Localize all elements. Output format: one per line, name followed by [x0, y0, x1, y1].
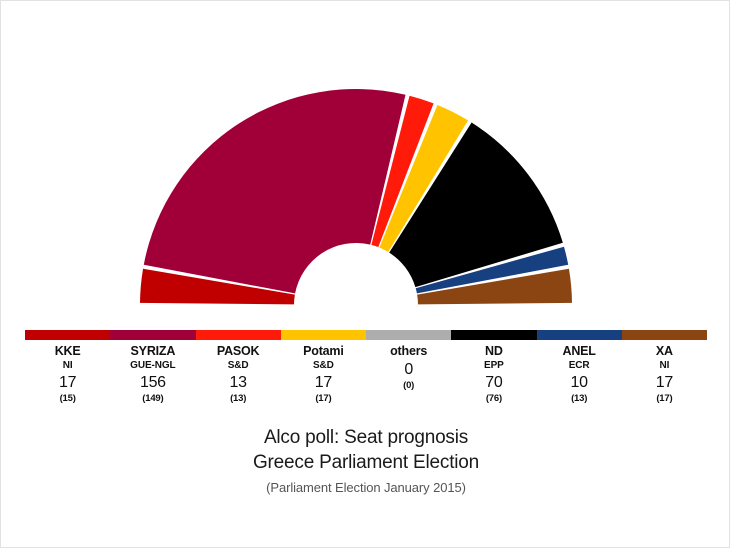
legend-party-name: ND — [451, 345, 536, 359]
legend-party-previous-seats: (149) — [110, 394, 195, 404]
legend-party-seats: 17 — [281, 374, 366, 391]
legend-item-anel[interactable]: ANELECR10(13) — [537, 345, 622, 404]
legend-item-syriza[interactable]: SYRIZAGUE-NGL156(149) — [110, 345, 195, 404]
legend-party-seats: 17 — [25, 374, 110, 391]
legend-columns: KKENI17(15)SYRIZAGUE-NGL156(149)PASOKS&D… — [25, 345, 707, 404]
legend-party-name: PASOK — [196, 345, 281, 359]
legend-swatch-pasok — [196, 330, 281, 340]
legend-item-xa[interactable]: XANI17(17) — [622, 345, 707, 404]
legend-party-group: NI — [25, 361, 110, 372]
hemicycle-wedge-syriza[interactable] — [144, 89, 406, 293]
legend-party-name: ANEL — [537, 345, 622, 359]
chart-title-line2: Greece Parliament Election — [1, 450, 730, 475]
legend-swatch-syriza — [110, 330, 195, 340]
legend-swatch-others — [366, 330, 451, 340]
legend-swatch-anel — [537, 330, 622, 340]
legend-swatch-xa — [622, 330, 707, 340]
hemicycle-svg — [1, 1, 730, 321]
legend-party-previous-seats: (13) — [196, 394, 281, 404]
legend-party-seats: 156 — [110, 374, 195, 391]
legend-party-group: NI — [622, 361, 707, 372]
legend-party-previous-seats: (15) — [25, 394, 110, 404]
legend-party-seats: 10 — [537, 374, 622, 391]
legend-item-kke[interactable]: KKENI17(15) — [25, 345, 110, 404]
legend-party-seats: 17 — [622, 374, 707, 391]
legend-party-group: S&D — [196, 361, 281, 372]
legend-color-bar — [25, 330, 707, 340]
hemicycle-wedges — [140, 89, 572, 304]
legend-party-group: GUE-NGL — [110, 361, 195, 372]
chart-title-line1: Alco poll: Seat prognosis — [1, 425, 730, 450]
legend-party-group: S&D — [281, 361, 366, 372]
legend-party-previous-seats: (17) — [281, 394, 366, 404]
legend-item-nd[interactable]: NDEPP70(76) — [451, 345, 536, 404]
legend-party-name: Potami — [281, 345, 366, 359]
legend-party-name: others — [366, 345, 451, 359]
legend-party-seats: 13 — [196, 374, 281, 391]
legend-item-potami[interactable]: PotamiS&D17(17) — [281, 345, 366, 404]
legend-item-others[interactable]: others0(0) — [366, 345, 451, 404]
legend-party-group: ECR — [537, 361, 622, 372]
legend-party-seats: 70 — [451, 374, 536, 391]
hemicycle-chart — [1, 1, 730, 321]
legend: KKENI17(15)SYRIZAGUE-NGL156(149)PASOKS&D… — [25, 330, 707, 412]
legend-party-previous-seats: (13) — [537, 394, 622, 404]
legend-party-name: XA — [622, 345, 707, 359]
legend-party-name: SYRIZA — [110, 345, 195, 359]
legend-swatch-nd — [451, 330, 536, 340]
legend-party-seats: 0 — [366, 361, 451, 378]
chart-subtitle: (Parliament Election January 2015) — [1, 478, 730, 498]
legend-item-pasok[interactable]: PASOKS&D13(13) — [196, 345, 281, 404]
chart-titles: Alco poll: Seat prognosis Greece Parliam… — [1, 425, 730, 498]
legend-party-previous-seats: (17) — [622, 394, 707, 404]
legend-party-previous-seats: (0) — [366, 381, 451, 391]
legend-swatch-kke — [25, 330, 110, 340]
legend-party-previous-seats: (76) — [451, 394, 536, 404]
chart-canvas: KKENI17(15)SYRIZAGUE-NGL156(149)PASOKS&D… — [0, 0, 730, 548]
legend-party-name: KKE — [25, 345, 110, 359]
legend-party-group: EPP — [451, 361, 536, 372]
legend-swatch-potami — [281, 330, 366, 340]
